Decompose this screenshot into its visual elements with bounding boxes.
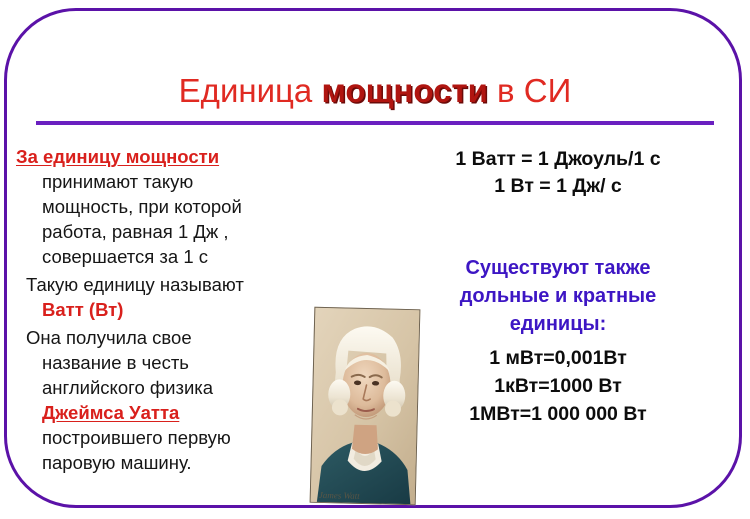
- title-part-moshchnosti: мощности: [321, 72, 487, 109]
- definition-heading-text: За единицу мощности: [16, 146, 219, 167]
- title-part-v-si: в СИ: [488, 72, 571, 109]
- origin-line-1: Она получила свое: [16, 325, 316, 350]
- multiple-kilowatt: 1кВт=1000 Вт: [378, 372, 738, 400]
- formula-line-2: 1 Вт = 1 Дж/ с: [378, 173, 738, 200]
- formula-block: 1 Ватт = 1 Джоуль/1 с 1 Вт = 1 Дж/ с: [378, 146, 738, 200]
- origin-emphasis: Джеймса Уатта: [16, 400, 316, 425]
- naming-paragraph: Такую единицу называют Ватт (Вт): [16, 272, 316, 322]
- multiple-megawatt: 1МВт=1 000 000 Вт: [378, 400, 738, 428]
- multiples-heading: Существуют также дольные и кратные едини…: [378, 254, 738, 338]
- naming-emphasis: Ватт (Вт): [16, 297, 316, 322]
- origin-line-2: название в честь: [16, 350, 316, 375]
- origin-paragraph: Она получила свое название в честь англи…: [16, 325, 316, 475]
- left-text-column: За единицу мощности принимают такую мощн…: [16, 144, 316, 478]
- multiples-list: 1 мВт=0,001Вт 1кВт=1000 Вт 1МВт=1 000 00…: [378, 344, 738, 428]
- definition-line-1: принимают такую: [16, 169, 316, 194]
- title-part-edinica: Единица: [179, 72, 322, 109]
- naming-line-1: Такую единицу называют: [16, 272, 316, 297]
- origin-line-3: английского физика: [16, 375, 316, 400]
- multiples-heading-line-2: дольные и кратные: [378, 282, 738, 310]
- portrait-signature: James Watt: [319, 490, 361, 501]
- definition-paragraph: За единицу мощности принимают такую мощн…: [16, 144, 316, 269]
- portrait-illustration: James Watt: [311, 308, 421, 506]
- origin-emphasis-text: Джеймса Уатта: [42, 402, 179, 423]
- multiple-milliwatt: 1 мВт=0,001Вт: [378, 344, 738, 372]
- multiples-heading-line-1: Существуют также: [378, 254, 738, 282]
- definition-line-4: совершается за 1 с: [16, 244, 316, 269]
- definition-line-3: работа, равная 1 Дж ,: [16, 219, 316, 244]
- portrait-james-watt: James Watt: [310, 307, 421, 506]
- title-divider: [36, 121, 714, 125]
- page-title: Единица мощности в СИ: [0, 72, 750, 110]
- definition-line-2: мощность, при которой: [16, 194, 316, 219]
- formula-line-1: 1 Ватт = 1 Джоуль/1 с: [378, 146, 738, 173]
- origin-line-5: паровую машину.: [16, 450, 316, 475]
- naming-emphasis-text: Ватт (Вт): [42, 299, 123, 320]
- slide-canvas: Единица мощности в СИ За единицу мощност…: [0, 0, 750, 519]
- definition-heading: За единицу мощности: [16, 144, 316, 169]
- origin-line-4: построившего первую: [16, 425, 316, 450]
- multiples-heading-line-3: единицы:: [378, 310, 738, 338]
